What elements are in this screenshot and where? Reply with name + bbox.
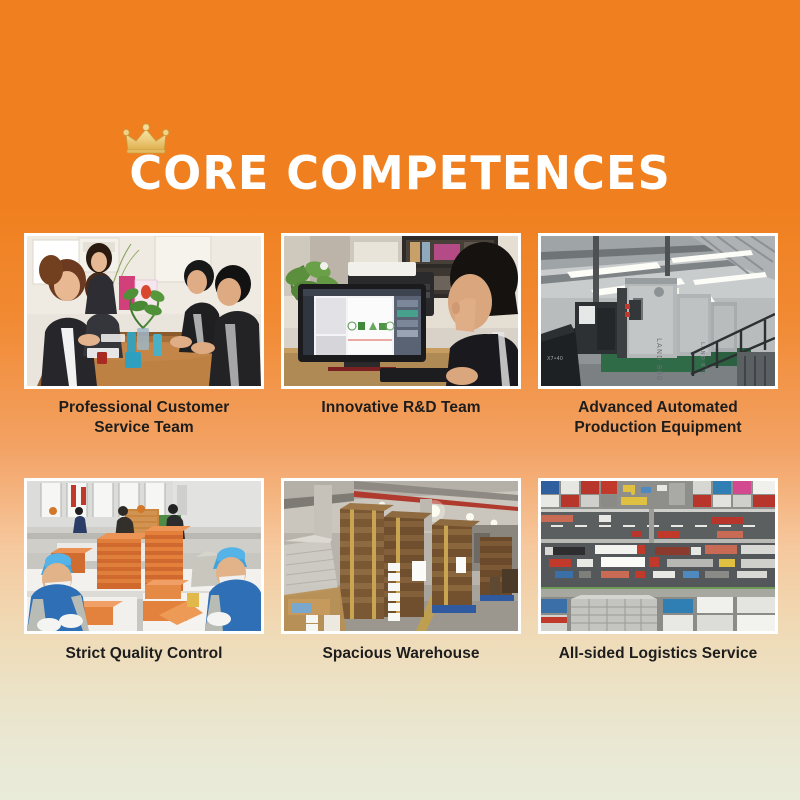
competence-card-all-sided-logistics-service[interactable]: All-sided Logistics Service (538, 478, 778, 664)
grid-row-spacer (24, 439, 778, 476)
card-caption: Innovative R&D Team (281, 398, 521, 418)
competence-card-strict-quality-control[interactable]: Strict Quality Control (24, 478, 264, 664)
photo-frame (24, 233, 264, 389)
meeting-room-photo (27, 236, 261, 386)
warehouse-photo (284, 481, 518, 631)
svg-text:X7•40: X7•40 (547, 356, 563, 362)
competence-card-spacious-warehouse[interactable]: Spacious Warehouse (281, 478, 521, 664)
caption-line-2: Production Equipment (538, 418, 778, 438)
core-competences-poster: CORE COMPETENCES (0, 0, 800, 800)
competence-card-advanced-automated-production-equipment[interactable]: LAND 800 LAND 800 X7•40 (538, 233, 778, 437)
caption-line-1: Innovative R&D Team (281, 398, 521, 418)
photo-frame (538, 478, 778, 634)
card-caption: All-sided Logistics Service (538, 644, 778, 664)
competence-card-innovative-rd-team[interactable]: Innovative R&D Team (281, 233, 521, 437)
photo-frame (281, 233, 521, 389)
caption-line-1: All-sided Logistics Service (538, 644, 778, 664)
svg-text:LAND 800: LAND 800 (655, 338, 663, 381)
title-inner: CORE COMPETENCES (121, 150, 679, 196)
printing-press-photo: LAND 800 LAND 800 X7•40 (541, 236, 775, 386)
container-port-photo (541, 481, 775, 631)
photo-frame (281, 478, 521, 634)
caption-line-1: Strict Quality Control (24, 644, 264, 664)
page-title: CORE COMPETENCES (129, 150, 671, 196)
photo-frame (24, 478, 264, 634)
title-block: CORE COMPETENCES (0, 150, 800, 196)
caption-line-1: Advanced Automated (538, 398, 778, 418)
caption-line-1: Professional Customer (24, 398, 264, 418)
card-caption: Spacious Warehouse (281, 644, 521, 664)
quality-inspection-photo (27, 481, 261, 631)
photo-frame: LAND 800 LAND 800 X7•40 (538, 233, 778, 389)
card-caption: Advanced Automated Production Equipment (538, 398, 778, 437)
card-caption: Strict Quality Control (24, 644, 264, 664)
caption-line-2: Service Team (24, 418, 264, 438)
caption-line-1: Spacious Warehouse (281, 644, 521, 664)
card-caption: Professional Customer Service Team (24, 398, 264, 437)
designer-at-monitor-photo (284, 236, 518, 386)
competence-grid: Professional Customer Service Team (24, 233, 778, 664)
competence-card-professional-customer-service-team[interactable]: Professional Customer Service Team (24, 233, 264, 437)
